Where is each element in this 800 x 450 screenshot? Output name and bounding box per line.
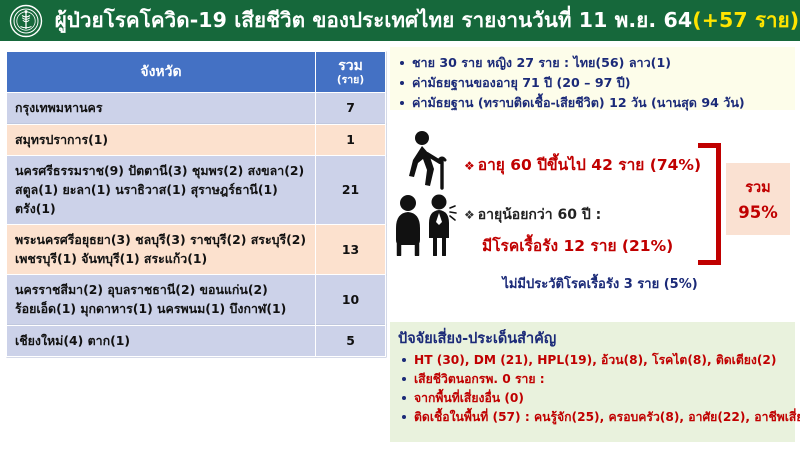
age-under-60-text: อายุน้อยกว่า 60 ปี :	[478, 207, 601, 223]
combined-total-value: 95%	[738, 203, 778, 222]
province-line-1: พระนครศรีอยุธยา(3) ชลบุรี(3) ราชบุรี(2) …	[15, 231, 307, 250]
table-row: พระนครศรีอยุธยา(3) ชลบุรี(3) ราชบุรี(2) …	[7, 225, 386, 275]
no-chronic-disease-stat: ไม่มีประวัติโรคเรื้อรัง 3 ราย (5%)	[450, 273, 750, 294]
risk-item-death-outside-hospital: เสียชีวิตนอกรพ. 0 ราย :	[390, 370, 795, 389]
column-header-province: จังหวัด	[7, 52, 316, 93]
total-cell: 10	[316, 275, 386, 325]
ministry-of-public-health-emblem-icon	[8, 3, 44, 39]
province-death-table: จังหวัด รวม (ราย) กรุงเทพมหานคร 7 สมุ	[6, 51, 386, 357]
page-header: ผู้ป่วยโรคโควิด-19 เสียชีวิต ของประเทศไท…	[0, 0, 800, 41]
province-table-wrapper: จังหวัด รวม (ราย) กรุงเทพมหานคร 7 สมุ	[6, 51, 377, 357]
table-row: สมุทรปราการ(1) 1	[7, 124, 386, 156]
province-line-1: นครราชสีมา(2) อุบลราชธานี(2) ขอนแก่น(2)	[15, 281, 307, 300]
table-header-row: จังหวัด รวม (ราย)	[7, 52, 386, 93]
total-cell: 1	[316, 124, 386, 156]
province-line-1: นครศรีธรรมราช(9) ปัตตานี(3) ชุมพร(2) สงข…	[15, 162, 307, 181]
province-line-2: สตูล(1) ยะลา(1) นราธิวาส(1) สุราษฎร์ธานี…	[15, 181, 307, 218]
age-breakdown-section: ❖อายุ 60 ปีขึ้นไป 42 ราย (74%) ❖อายุน้อย…	[390, 116, 795, 316]
demographics-item-sex-nationality: ชาย 30 ราย หญิง 27 ราย : ไทย(56) ลาว(1)	[390, 53, 795, 73]
risk-factors-list: HT (30), DM (21), HPL(19), อ้วน(8), โรคไ…	[390, 351, 795, 427]
province-line-1: เชียงใหม่(4) ตาก(1)	[15, 332, 307, 351]
demographics-item-median-age: ค่ามัธยฐานของอายุ 71 ปี (20 – 97 ปี)	[390, 73, 795, 93]
table-row: กรุงเทพมหานคร 7	[7, 93, 386, 125]
province-line-1: สมุทรปราการ(1)	[15, 131, 307, 150]
province-cell: เชียงใหม่(4) ตาก(1)	[7, 325, 316, 357]
demographics-summary-box: ชาย 30 ราย หญิง 27 ราย : ไทย(56) ลาว(1) …	[390, 47, 795, 110]
province-line-1: กรุงเทพมหานคร	[15, 99, 307, 118]
province-cell: พระนครศรีอยุธยา(3) ชลบุรี(3) ราชบุรี(2) …	[7, 225, 316, 275]
demographics-item-median-days: ค่ามัธยฐาน (ทราบติดเชื้อ-เสียชีวิต) 12 ว…	[390, 93, 795, 113]
total-cell: 5	[316, 325, 386, 357]
chronic-disease-stat: มีโรคเรื้อรัง 12 ราย (21%)	[482, 233, 673, 258]
risk-item-other-risk-area: จากพื้นที่เสี่ยงอื่น (0)	[390, 389, 795, 408]
risk-item-local-infection: ติดเชื้อในพื้นที่ (57) : คนรู้จัก(25), ค…	[390, 408, 795, 427]
total-cell: 21	[316, 156, 386, 225]
page-title-highlight: (+57 ราย)	[692, 4, 799, 37]
elderly-person-with-cane-icon	[396, 130, 456, 196]
province-line-2: ร้อยเอ็ด(1) มุกดาหาร(1) นครพนม(1) บึงกาฬ…	[15, 300, 307, 319]
age-under-60-label: ❖อายุน้อยกว่า 60 ปี :	[464, 204, 601, 226]
risk-factors-box: ปัจจัยเสี่ยง-ประเด็นสำคัญ HT (30), DM (2…	[390, 322, 795, 442]
province-cell: สมุทรปราการ(1)	[7, 124, 316, 156]
page-title-main: ผู้ป่วยโรคโควิด-19 เสียชีวิต ของประเทศไท…	[55, 4, 692, 37]
age-60-plus-stat: ❖อายุ 60 ปีขึ้นไป 42 ราย (74%)	[464, 152, 701, 177]
total-cell: 13	[316, 225, 386, 275]
risk-factors-heading: ปัจจัยเสี่ยง-ประเด็นสำคัญ	[390, 322, 795, 351]
risk-item-comorbidities: HT (30), DM (21), HPL(19), อ้วน(8), โรคไ…	[390, 351, 795, 370]
two-adults-icon	[392, 194, 460, 260]
table-row: เชียงใหม่(4) ตาก(1) 5	[7, 325, 386, 357]
diamond-bullet-icon: ❖	[464, 208, 475, 222]
combined-total-badge: รวม 95%	[726, 163, 790, 235]
table-row: นครราชสีมา(2) อุบลราชธานี(2) ขอนแก่น(2) …	[7, 275, 386, 325]
column-header-total-label: รวม	[338, 58, 363, 74]
page-title: ผู้ป่วยโรคโควิด-19 เสียชีวิต ของประเทศไท…	[62, 0, 792, 41]
column-header-total: รวม (ราย)	[316, 52, 386, 93]
infographic-page: ผู้ป่วยโรคโควิด-19 เสียชีวิต ของประเทศไท…	[0, 0, 800, 450]
province-cell: นครศรีธรรมราช(9) ปัตตานี(3) ชุมพร(2) สงข…	[7, 156, 316, 225]
province-line-2: เพชรบุรี(1) จันทบุรี(1) สระแก้ว(1)	[15, 250, 307, 269]
province-cell: นครราชสีมา(2) อุบลราชธานี(2) ขอนแก่น(2) …	[7, 275, 316, 325]
column-header-total-sub: (ราย)	[318, 74, 383, 86]
province-cell: กรุงเทพมหานคร	[7, 93, 316, 125]
grouping-bracket	[698, 143, 721, 265]
total-cell: 7	[316, 93, 386, 125]
demographics-list: ชาย 30 ราย หญิง 27 ราย : ไทย(56) ลาว(1) …	[390, 47, 795, 113]
diamond-bullet-icon: ❖	[464, 159, 475, 173]
table-row: นครศรีธรรมราช(9) ปัตตานี(3) ชุมพร(2) สงข…	[7, 156, 386, 225]
age-60-plus-text: อายุ 60 ปีขึ้นไป 42 ราย (74%)	[478, 156, 701, 174]
table-body: กรุงเทพมหานคร 7 สมุทรปราการ(1) 1 นครศรีธ…	[7, 93, 386, 357]
combined-total-label: รวม	[745, 176, 771, 199]
